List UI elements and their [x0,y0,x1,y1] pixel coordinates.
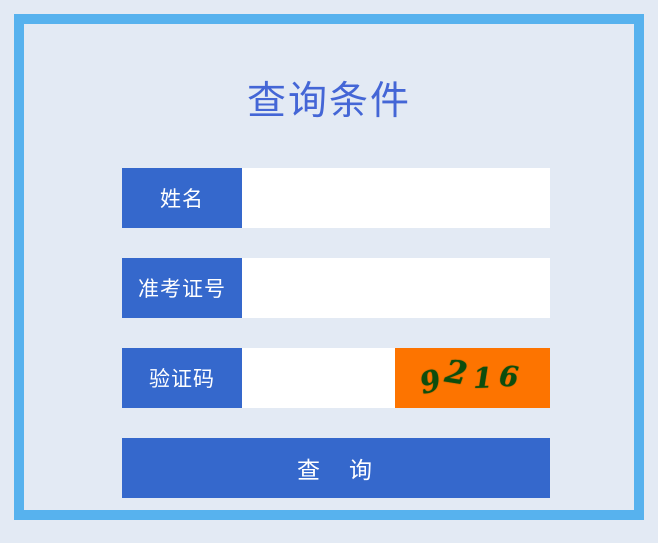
form-row-admission-ticket: 准考证号 [122,258,550,318]
query-form: 姓名 准考证号 验证码 9216 查 询 [122,168,550,498]
captcha-input[interactable] [242,348,395,408]
submit-query-button[interactable]: 查 询 [122,438,550,498]
form-row-captcha: 验证码 9216 [122,348,550,408]
label-captcha: 验证码 [122,348,242,408]
captcha-char-4: 6 [498,360,527,395]
captcha-char-3: 1 [472,361,500,395]
captcha-image[interactable]: 9216 [395,348,550,408]
page-title: 查询条件 [24,78,634,126]
label-admission-ticket: 准考证号 [122,258,242,318]
captcha-code-text: 9216 [395,362,550,395]
label-name: 姓名 [122,168,242,228]
page-frame: 查询条件 姓名 准考证号 验证码 9216 查 询 [14,14,644,520]
form-row-name: 姓名 [122,168,550,228]
admission-ticket-input[interactable] [242,258,550,318]
name-input[interactable] [242,168,550,228]
